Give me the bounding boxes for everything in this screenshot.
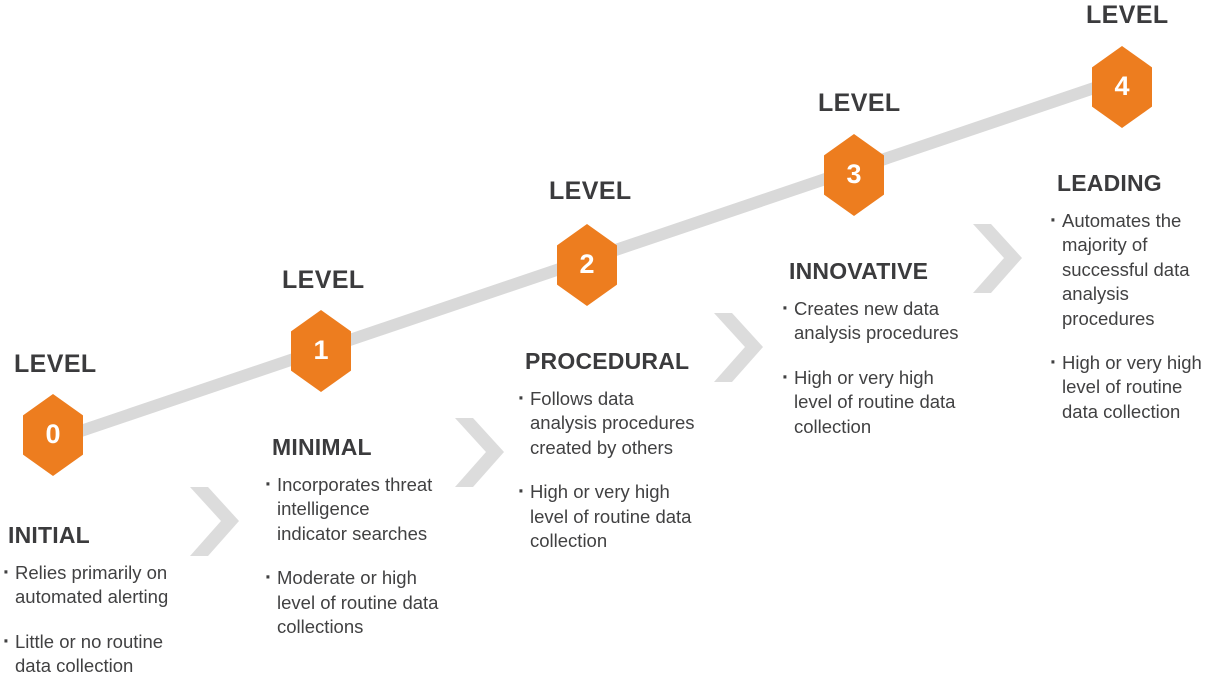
- stage-title-4: LEADING: [1057, 172, 1162, 195]
- level-hexagon-0[interactable]: 0: [23, 394, 83, 476]
- chevron-icon: [714, 313, 763, 382]
- stage-title-1: MINIMAL: [272, 436, 372, 459]
- maturity-model-diagram: LEVEL 0 INITIAL Relies primarily on auto…: [0, 0, 1217, 683]
- level-label-1: LEVEL: [282, 268, 365, 293]
- list-item: High or very high level of routine data …: [781, 366, 965, 439]
- list-item: Creates new data analysis procedures: [781, 297, 965, 346]
- level-label-2: LEVEL: [549, 179, 632, 204]
- level-number-2: 2: [579, 251, 594, 278]
- stage-bullets-4: Automates the majority of successful dat…: [1049, 209, 1217, 424]
- chevron-icon: [455, 418, 504, 487]
- list-item: Relies primarily on automated alerting: [2, 561, 182, 610]
- stage-title-3: INNOVATIVE: [789, 260, 928, 283]
- list-item: Little or no routine data collection: [2, 630, 182, 679]
- level-hexagon-1[interactable]: 1: [291, 310, 351, 392]
- stage-bullets-2: Follows data analysis procedures created…: [517, 387, 701, 553]
- list-item: Moderate or high level of routine data c…: [264, 566, 442, 639]
- stage-bullets-0: Relies primarily on automated alerting L…: [2, 561, 182, 679]
- chevron-icon: [190, 487, 239, 556]
- list-item: High or very high level of routine data …: [1049, 351, 1217, 424]
- level-hexagon-4[interactable]: 4: [1092, 46, 1152, 128]
- level-number-1: 1: [313, 337, 328, 364]
- stage-bullets-3: Creates new data analysis procedures Hig…: [781, 297, 965, 439]
- stage-bullets-1: Incorporates threat intelligence indicat…: [264, 473, 442, 639]
- level-number-0: 0: [45, 421, 60, 448]
- list-item: Follows data analysis procedures created…: [517, 387, 701, 460]
- chevron-icon: [973, 224, 1022, 293]
- list-item: Incorporates threat intelligence indicat…: [264, 473, 442, 546]
- level-label-3: LEVEL: [818, 91, 901, 116]
- progression-band: [0, 0, 1217, 683]
- level-label-0: LEVEL: [14, 352, 97, 377]
- level-number-4: 4: [1114, 73, 1129, 100]
- stage-title-2: PROCEDURAL: [525, 350, 689, 373]
- level-label-4: LEVEL: [1086, 3, 1169, 28]
- list-item: Automates the majority of successful dat…: [1049, 209, 1217, 331]
- stage-title-0: INITIAL: [8, 524, 90, 547]
- chevron-separators: [0, 0, 1217, 683]
- level-number-3: 3: [846, 161, 861, 188]
- list-item: High or very high level of routine data …: [517, 480, 701, 553]
- level-hexagon-2[interactable]: 2: [557, 224, 617, 306]
- level-hexagon-3[interactable]: 3: [824, 134, 884, 216]
